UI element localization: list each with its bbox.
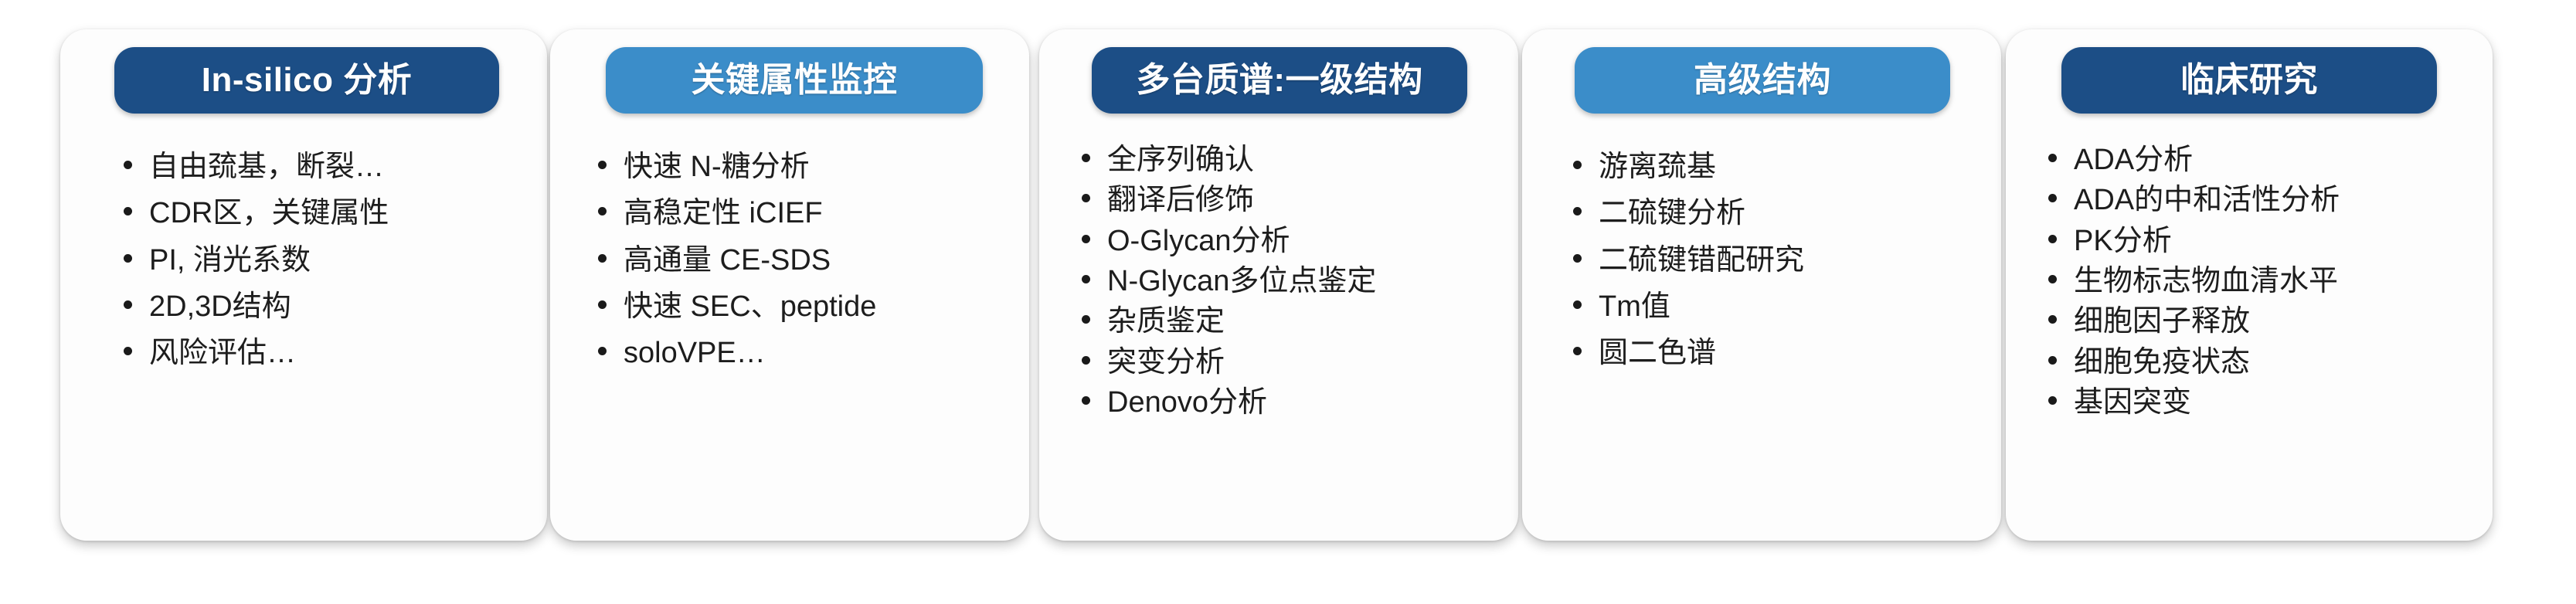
bullet-dot-icon <box>1082 396 1090 405</box>
card-multi-ms-primary-structure: 多台质谱:一级结构 全序列确认 翻译后修饰 O-Glycan分析 N-Glyca… <box>1039 29 1518 541</box>
list-item: PI, 消光系数 <box>124 243 533 278</box>
card-bullet-list: 游离巯基 二硫键分析 二硫键错配研究 Tm值 圆二色谱 <box>1573 149 1990 382</box>
list-item: 高通量 CE-SDS <box>598 243 1015 278</box>
list-item: CDR区，关键属性 <box>124 195 533 231</box>
list-item-label: 风险评估… <box>149 335 296 371</box>
bullet-dot-icon <box>1573 347 1582 355</box>
list-item-label: 细胞因子释放 <box>2074 304 2250 339</box>
card-critical-attribute-monitoring: 关键属性监控 快速 N-糖分析 高稳定性 iCIEF 高通量 CE-SDS 快速… <box>550 29 1029 541</box>
card-header-pill-clinical-research: 临床研究 <box>2061 47 2437 114</box>
list-item-label: PI, 消光系数 <box>149 243 311 278</box>
bullet-dot-icon <box>1573 300 1582 309</box>
bullet-dot-icon <box>598 161 607 169</box>
bullet-dot-icon <box>1082 315 1090 324</box>
list-item: 翻译后修饰 <box>1082 182 1514 218</box>
list-item-label: 圆二色谱 <box>1599 335 1716 371</box>
list-item-label: N-Glycan多位点鉴定 <box>1107 263 1376 299</box>
list-item: 杂质鉴定 <box>1082 304 1514 339</box>
card-header-label: 多台质谱:一级结构 <box>1136 63 1422 97</box>
list-item: 二硫键分析 <box>1573 195 1990 231</box>
list-item-label: ADA的中和活性分析 <box>2074 182 2340 218</box>
list-item-label: 翻译后修饰 <box>1107 182 1254 218</box>
list-item: 二硫键错配研究 <box>1573 243 1990 278</box>
card-clinical-research: 临床研究 ADA分析 ADA的中和活性分析 PK分析 生物标志物血清水平 细胞因… <box>2006 29 2493 541</box>
bullet-dot-icon <box>598 254 607 263</box>
list-item: 2D,3D结构 <box>124 289 533 324</box>
list-item-label: PK分析 <box>2074 223 2172 259</box>
list-item: 生物标志物血清水平 <box>2048 263 2489 299</box>
bullet-dot-icon <box>2048 315 2057 324</box>
list-item: PK分析 <box>2048 223 2489 259</box>
bullet-dot-icon <box>2048 396 2057 405</box>
list-item-label: 2D,3D结构 <box>149 289 291 324</box>
list-item: 自由巯基，断裂… <box>124 149 533 185</box>
list-item-label: 快速 SEC、peptide <box>624 289 876 324</box>
bullet-dot-icon <box>598 300 607 309</box>
list-item: 细胞免疫状态 <box>2048 344 2489 380</box>
bullet-dot-icon <box>1082 356 1090 365</box>
card-in-silico-analysis: In-silico 分析 自由巯基，断裂… CDR区，关键属性 PI, 消光系数… <box>60 29 547 541</box>
bullet-dot-icon <box>2048 235 2057 243</box>
list-item: 细胞因子释放 <box>2048 304 2489 339</box>
list-item-label: 突变分析 <box>1107 344 1225 380</box>
list-item-label: 游离巯基 <box>1599 149 1716 185</box>
card-header-label: In-silico 分析 <box>202 63 412 97</box>
list-item: O-Glycan分析 <box>1082 223 1514 259</box>
bullet-dot-icon <box>2048 275 2057 283</box>
list-item: ADA的中和活性分析 <box>2048 182 2489 218</box>
list-item: N-Glycan多位点鉴定 <box>1082 263 1514 299</box>
card-bullet-list: 全序列确认 翻译后修饰 O-Glycan分析 N-Glycan多位点鉴定 杂质鉴… <box>1082 142 1514 426</box>
list-item-label: Denovo分析 <box>1107 385 1267 420</box>
bullet-dot-icon <box>1082 154 1090 162</box>
list-item-label: 快速 N-糖分析 <box>624 149 810 185</box>
list-item: 游离巯基 <box>1573 149 1990 185</box>
card-header-pill-multi-ms-primary-structure: 多台质谱:一级结构 <box>1092 47 1467 114</box>
card-header-pill-critical-attribute-monitoring: 关键属性监控 <box>606 47 983 114</box>
card-higher-order-structure: 高级结构 游离巯基 二硫键分析 二硫键错配研究 Tm值 圆二色谱 <box>1522 29 2001 541</box>
bullet-dot-icon <box>598 347 607 355</box>
bullet-dot-icon <box>1573 254 1582 263</box>
bullet-dot-icon <box>124 300 132 309</box>
list-item-label: 自由巯基，断裂… <box>149 149 384 185</box>
list-item-label: 生物标志物血清水平 <box>2074 263 2338 299</box>
card-header-pill-in-silico-analysis: In-silico 分析 <box>114 47 499 114</box>
list-item: 基因突变 <box>2048 385 2489 420</box>
list-item-label: 全序列确认 <box>1107 142 1254 178</box>
bullet-dot-icon <box>1082 194 1090 202</box>
capability-card-board: In-silico 分析 自由巯基，断裂… CDR区，关键属性 PI, 消光系数… <box>0 0 2576 604</box>
list-item: Tm值 <box>1573 289 1990 324</box>
card-bullet-list: 快速 N-糖分析 高稳定性 iCIEF 高通量 CE-SDS 快速 SEC、pe… <box>598 149 1015 382</box>
bullet-dot-icon <box>598 207 607 215</box>
list-item: soloVPE… <box>598 335 1015 371</box>
list-item-label: Tm值 <box>1599 289 1670 324</box>
list-item: 全序列确认 <box>1082 142 1514 178</box>
card-bullet-list: ADA分析 ADA的中和活性分析 PK分析 生物标志物血清水平 细胞因子释放 细… <box>2048 142 2489 426</box>
list-item-label: 二硫键错配研究 <box>1599 243 1804 278</box>
list-item-label: CDR区，关键属性 <box>149 195 389 231</box>
list-item-label: ADA分析 <box>2074 142 2193 178</box>
list-item-label: soloVPE… <box>624 335 766 371</box>
card-header-label: 临床研究 <box>2180 63 2318 97</box>
list-item: Denovo分析 <box>1082 385 1514 420</box>
list-item: 高稳定性 iCIEF <box>598 195 1015 231</box>
list-item-label: O-Glycan分析 <box>1107 223 1290 259</box>
bullet-dot-icon <box>124 254 132 263</box>
bullet-dot-icon <box>1573 207 1582 215</box>
list-item: 突变分析 <box>1082 344 1514 380</box>
card-bullet-list: 自由巯基，断裂… CDR区，关键属性 PI, 消光系数 2D,3D结构 风险评估… <box>124 149 533 382</box>
list-item: 快速 N-糖分析 <box>598 149 1015 185</box>
bullet-dot-icon <box>1573 161 1582 169</box>
card-header-label: 关键属性监控 <box>692 63 898 97</box>
list-item-label: 基因突变 <box>2074 385 2191 420</box>
bullet-dot-icon <box>124 347 132 355</box>
bullet-dot-icon <box>2048 194 2057 202</box>
list-item: 风险评估… <box>124 335 533 371</box>
bullet-dot-icon <box>124 207 132 215</box>
list-item-label: 高通量 CE-SDS <box>624 243 831 278</box>
list-item: 快速 SEC、peptide <box>598 289 1015 324</box>
card-header-label: 高级结构 <box>1694 63 1831 97</box>
bullet-dot-icon <box>2048 356 2057 365</box>
bullet-dot-icon <box>1082 275 1090 283</box>
list-item-label: 杂质鉴定 <box>1107 304 1225 339</box>
bullet-dot-icon <box>1082 235 1090 243</box>
list-item: ADA分析 <box>2048 142 2489 178</box>
bullet-dot-icon <box>124 161 132 169</box>
list-item: 圆二色谱 <box>1573 335 1990 371</box>
list-item-label: 高稳定性 iCIEF <box>624 195 823 231</box>
list-item-label: 二硫键分析 <box>1599 195 1745 231</box>
card-header-pill-higher-order-structure: 高级结构 <box>1575 47 1950 114</box>
list-item-label: 细胞免疫状态 <box>2074 344 2250 380</box>
bullet-dot-icon <box>2048 154 2057 162</box>
